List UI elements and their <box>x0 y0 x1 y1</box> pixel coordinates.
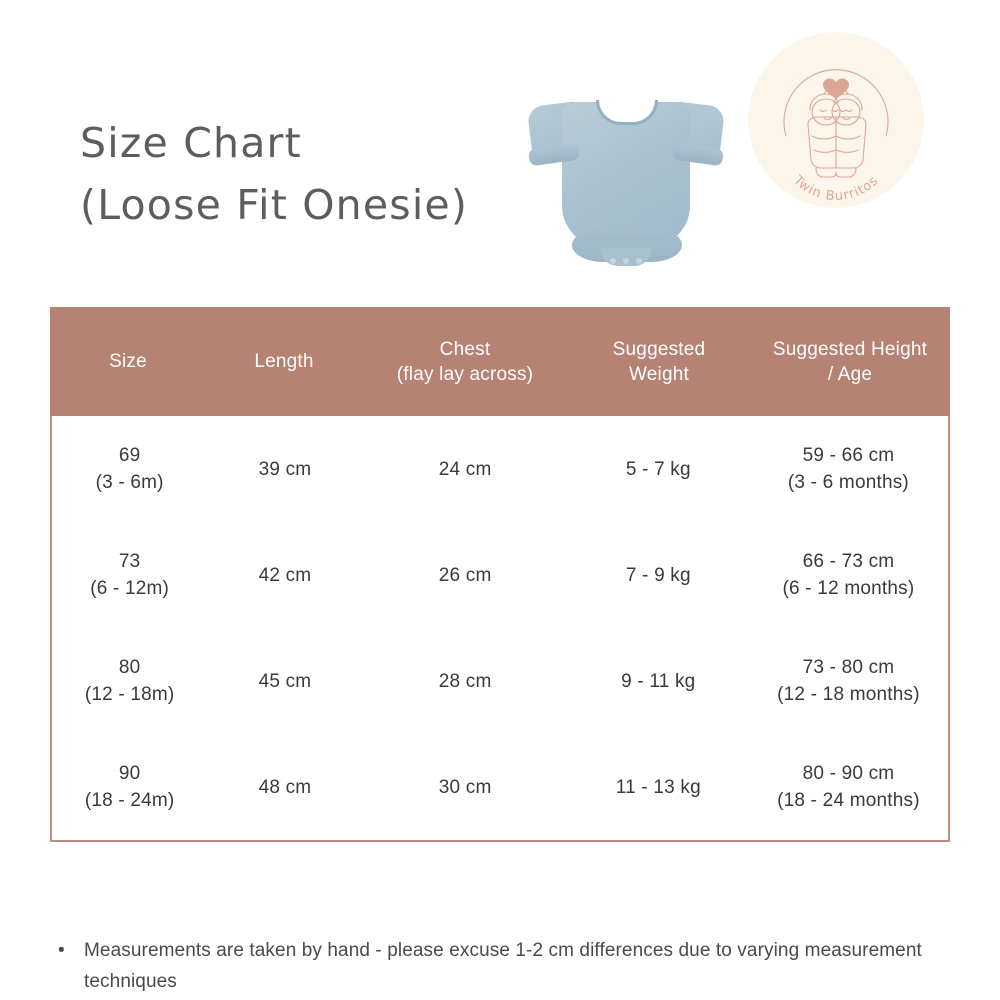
size-chart-table: Size Length Chest (flay lay across) Sugg… <box>50 307 950 842</box>
brand-logo-artwork: Twin Burritos <box>748 32 924 208</box>
table-body: 69 (3 - 6m) 39 cm 24 cm 5 - 7 kg 59 - 66… <box>50 416 950 842</box>
bullet-icon: • <box>58 935 84 966</box>
cell-length: 39 cm <box>207 456 362 483</box>
cell-length: 48 cm <box>207 774 362 801</box>
product-image <box>524 88 728 274</box>
cell-length: 45 cm <box>207 668 362 695</box>
cell-weight: 5 - 7 kg <box>568 456 749 483</box>
svg-text:Twin Burritos: Twin Burritos <box>789 172 881 204</box>
cell-chest: 26 cm <box>363 562 568 589</box>
cell-size: 90 (18 - 24m) <box>52 760 207 814</box>
footnote-text: Measurements are taken by hand - please … <box>84 935 938 997</box>
brand-name-curved: Twin Burritos <box>789 172 881 204</box>
cell-size: 73 (6 - 12m) <box>52 548 207 602</box>
brand-logo: Twin Burritos <box>748 32 924 208</box>
column-header-suggested-height-age: Suggested Height / Age <box>750 337 950 387</box>
cell-size: 69 (3 - 6m) <box>52 442 207 496</box>
snap-button <box>623 258 629 264</box>
footnotes: • Measurements are taken by hand - pleas… <box>58 935 938 997</box>
table-row: 80 (12 - 18m) 45 cm 28 cm 9 - 11 kg 73 -… <box>52 628 948 734</box>
column-header-suggested-weight: Suggested Weight <box>568 337 750 387</box>
swaddle-outline <box>808 117 866 168</box>
column-header-size: Size <box>50 349 206 374</box>
cell-height-age: 80 - 90 cm (18 - 24 months) <box>749 760 948 814</box>
cell-height-age: 66 - 73 cm (6 - 12 months) <box>749 548 948 602</box>
cell-size: 80 (12 - 18m) <box>52 654 207 708</box>
page-title-line-1: Size Chart <box>80 112 510 174</box>
snap-button <box>636 258 642 264</box>
heart-icon <box>823 78 849 99</box>
column-header-chest: Chest (flay lay across) <box>362 337 568 387</box>
cell-chest: 28 cm <box>363 668 568 695</box>
cell-weight: 7 - 9 kg <box>568 562 749 589</box>
table-row: 69 (3 - 6m) 39 cm 24 cm 5 - 7 kg 59 - 66… <box>52 416 948 522</box>
table-header-row: Size Length Chest (flay lay across) Sugg… <box>50 307 950 416</box>
page-title: Size Chart (Loose Fit Onesie) <box>80 112 510 236</box>
cell-chest: 24 cm <box>363 456 568 483</box>
cell-chest: 30 cm <box>363 774 568 801</box>
snap-button <box>610 258 616 264</box>
cell-height-age: 73 - 80 cm (12 - 18 months) <box>749 654 948 708</box>
page-title-line-2: (Loose Fit Onesie) <box>80 174 510 236</box>
column-header-length: Length <box>206 349 362 374</box>
cell-height-age: 59 - 66 cm (3 - 6 months) <box>749 442 948 496</box>
cell-weight: 11 - 13 kg <box>568 774 749 801</box>
cell-weight: 9 - 11 kg <box>568 668 749 695</box>
list-item: • Measurements are taken by hand - pleas… <box>58 935 938 997</box>
table-row: 90 (18 - 24m) 48 cm 30 cm 11 - 13 kg 80 … <box>52 734 948 840</box>
cell-length: 42 cm <box>207 562 362 589</box>
table-row: 73 (6 - 12m) 42 cm 26 cm 7 - 9 kg 66 - 7… <box>52 522 948 628</box>
